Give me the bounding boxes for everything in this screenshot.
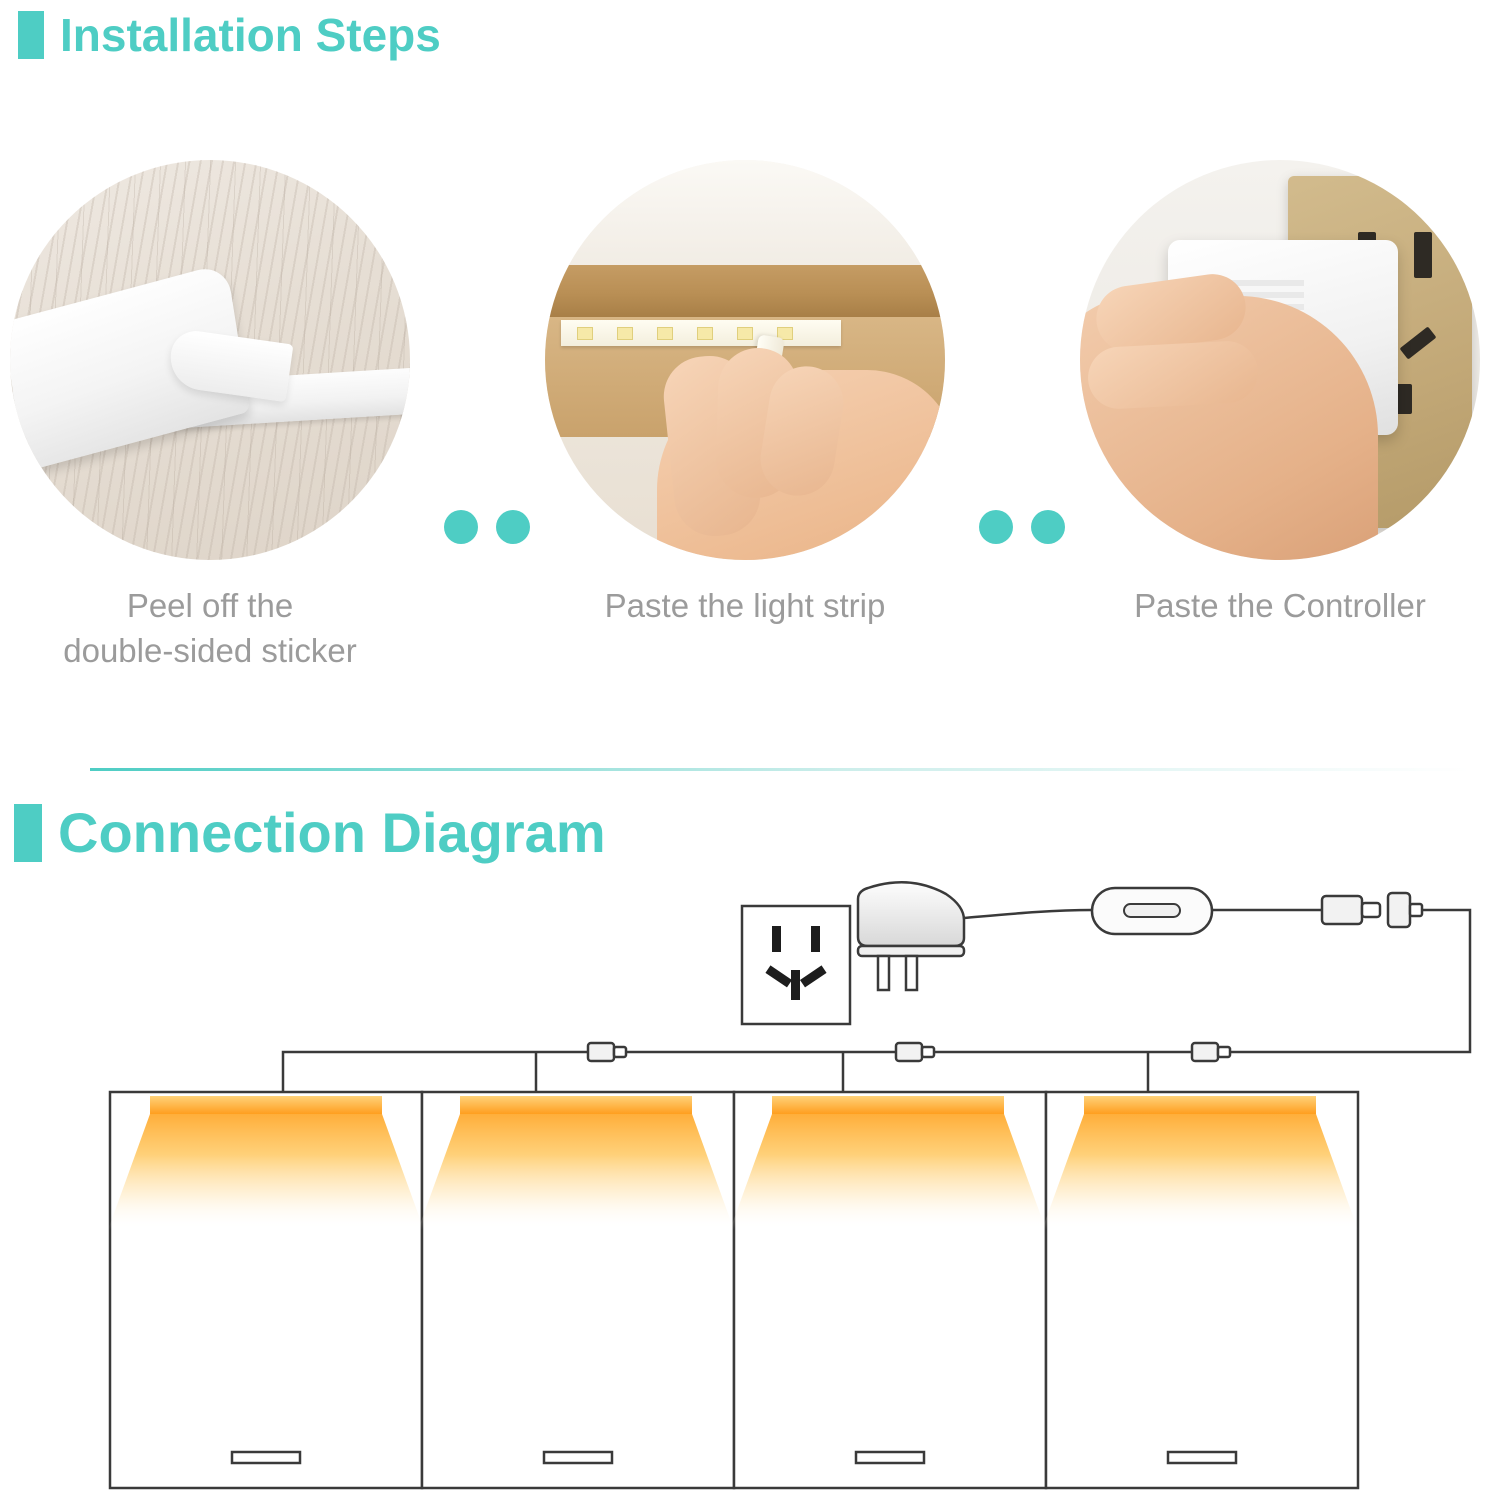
cabinet-handle [544,1452,612,1463]
installation-steps-heading: Installation Steps [18,8,441,62]
cabinet-unit [1042,1092,1358,1488]
square-marker-icon [14,804,42,862]
section-divider [90,768,1470,771]
dot-icon [1031,510,1065,544]
dot-icon [496,510,530,544]
dot-icon [444,510,478,544]
step-1-caption-line-1: Peel off the [10,584,410,629]
cabinet-handle [856,1452,924,1463]
installation-step-3: Paste the Controller [1080,160,1480,629]
dc-connector-male-icon [1322,896,1380,924]
peel-sticker-photo [10,160,410,560]
cabinet-handle [232,1452,300,1463]
step-2-caption-line-1: Paste the light strip [545,584,945,629]
dc-connector-male-icon [1192,1043,1230,1061]
light-strip [1084,1096,1316,1114]
dc-connector-male-icon [896,1043,934,1061]
installation-step-1-label: Peel off the double-sided sticker [10,584,410,673]
installation-steps-row: Peel off the double-sided sticker [0,160,1497,700]
wall-socket-icon [742,906,850,1024]
paste-controller-photo [1080,160,1480,560]
power-adapter-plug-icon [858,882,964,990]
connection-diagram [0,860,1497,1497]
dot-icon [979,510,1013,544]
installation-step-3-label: Paste the Controller [1080,584,1480,629]
step-3-caption-line-1: Paste the Controller [1080,584,1480,629]
installation-step-1: Peel off the double-sided sticker [10,160,410,673]
paste-light-strip-photo [545,160,945,560]
step-separator-dots-2 [979,510,1065,544]
light-glow [108,1114,424,1230]
cabinet-handle [1168,1452,1236,1463]
dc-connector-female-icon [1388,893,1422,927]
connection-title: Connection Diagram [58,800,606,865]
installation-step-2-label: Paste the light strip [545,584,945,629]
light-glow [730,1114,1046,1230]
page-title: Installation Steps [60,8,441,62]
light-strip [150,1096,382,1114]
dc-connector-male-icon [588,1043,626,1061]
step-1-caption-line-2: double-sided sticker [10,629,410,674]
inline-dimmer-switch-icon [1092,888,1212,934]
installation-step-2: Paste the light strip [545,160,945,629]
light-glow [418,1114,734,1230]
light-strip [772,1096,1004,1114]
square-marker-icon [18,11,44,59]
cabinet-unit [108,1092,424,1488]
light-strip [460,1096,692,1114]
connection-diagram-heading: Connection Diagram [14,800,606,865]
cabinet-unit [418,1092,734,1488]
step-separator-dots-1 [444,510,530,544]
light-glow [1042,1114,1358,1230]
cabinet-unit [730,1092,1046,1488]
